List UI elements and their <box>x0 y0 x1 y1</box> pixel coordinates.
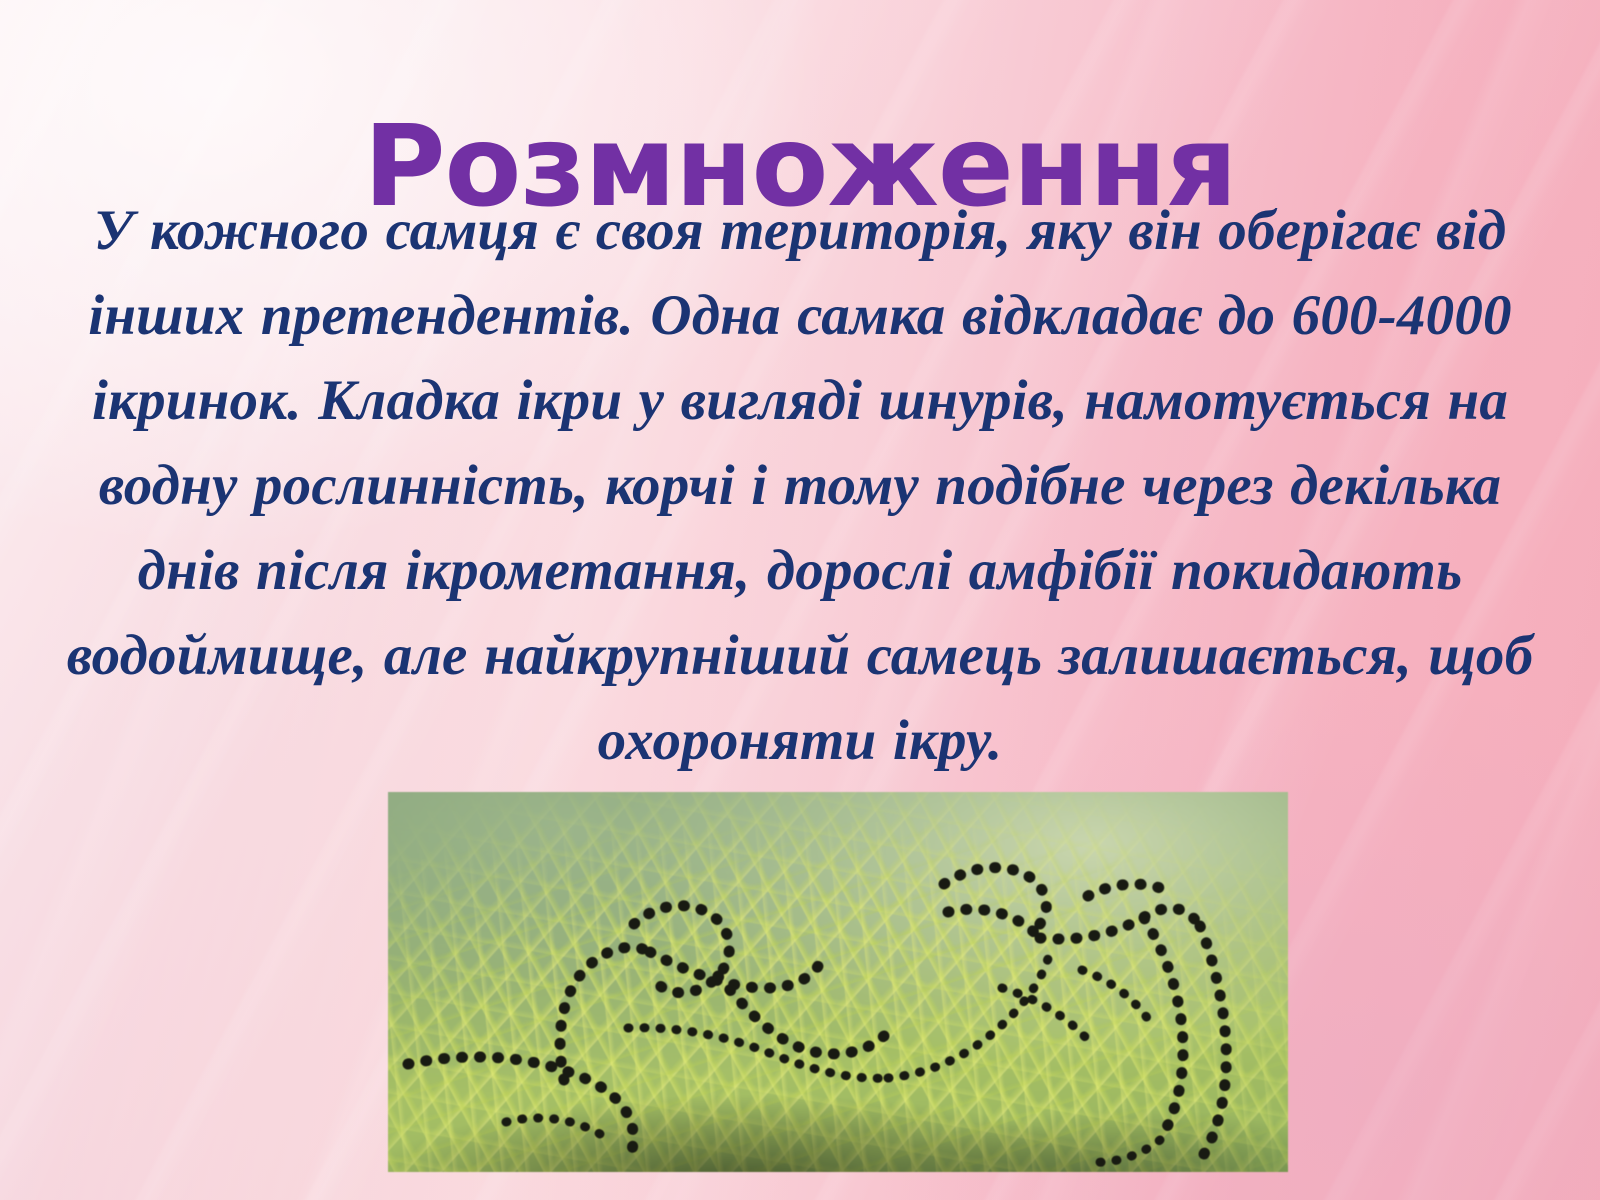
body-line: інших претендентів. Одна самка відкладає… <box>42 273 1558 358</box>
body-paragraph: У кожного самця є своя територія, яку ві… <box>42 188 1558 783</box>
body-line: водну рослинність, корчі і тому подібне … <box>42 443 1558 528</box>
body-line: ікринок. Кладка ікри у вигляді шнурів, н… <box>42 358 1558 443</box>
frog-spawn-photo <box>388 792 1288 1172</box>
egg-strings-overlay <box>388 792 1288 1172</box>
presentation-slide: Розмноження У кожного самця є своя терит… <box>0 0 1600 1200</box>
body-line: У кожного самця є своя територія, яку ві… <box>42 188 1558 273</box>
body-line: охороняти ікру. <box>42 698 1558 783</box>
body-line: водоймище, але найкрупніший самець залиш… <box>42 613 1558 698</box>
body-line: днів після ікрометання, дорослі амфібії … <box>42 528 1558 613</box>
